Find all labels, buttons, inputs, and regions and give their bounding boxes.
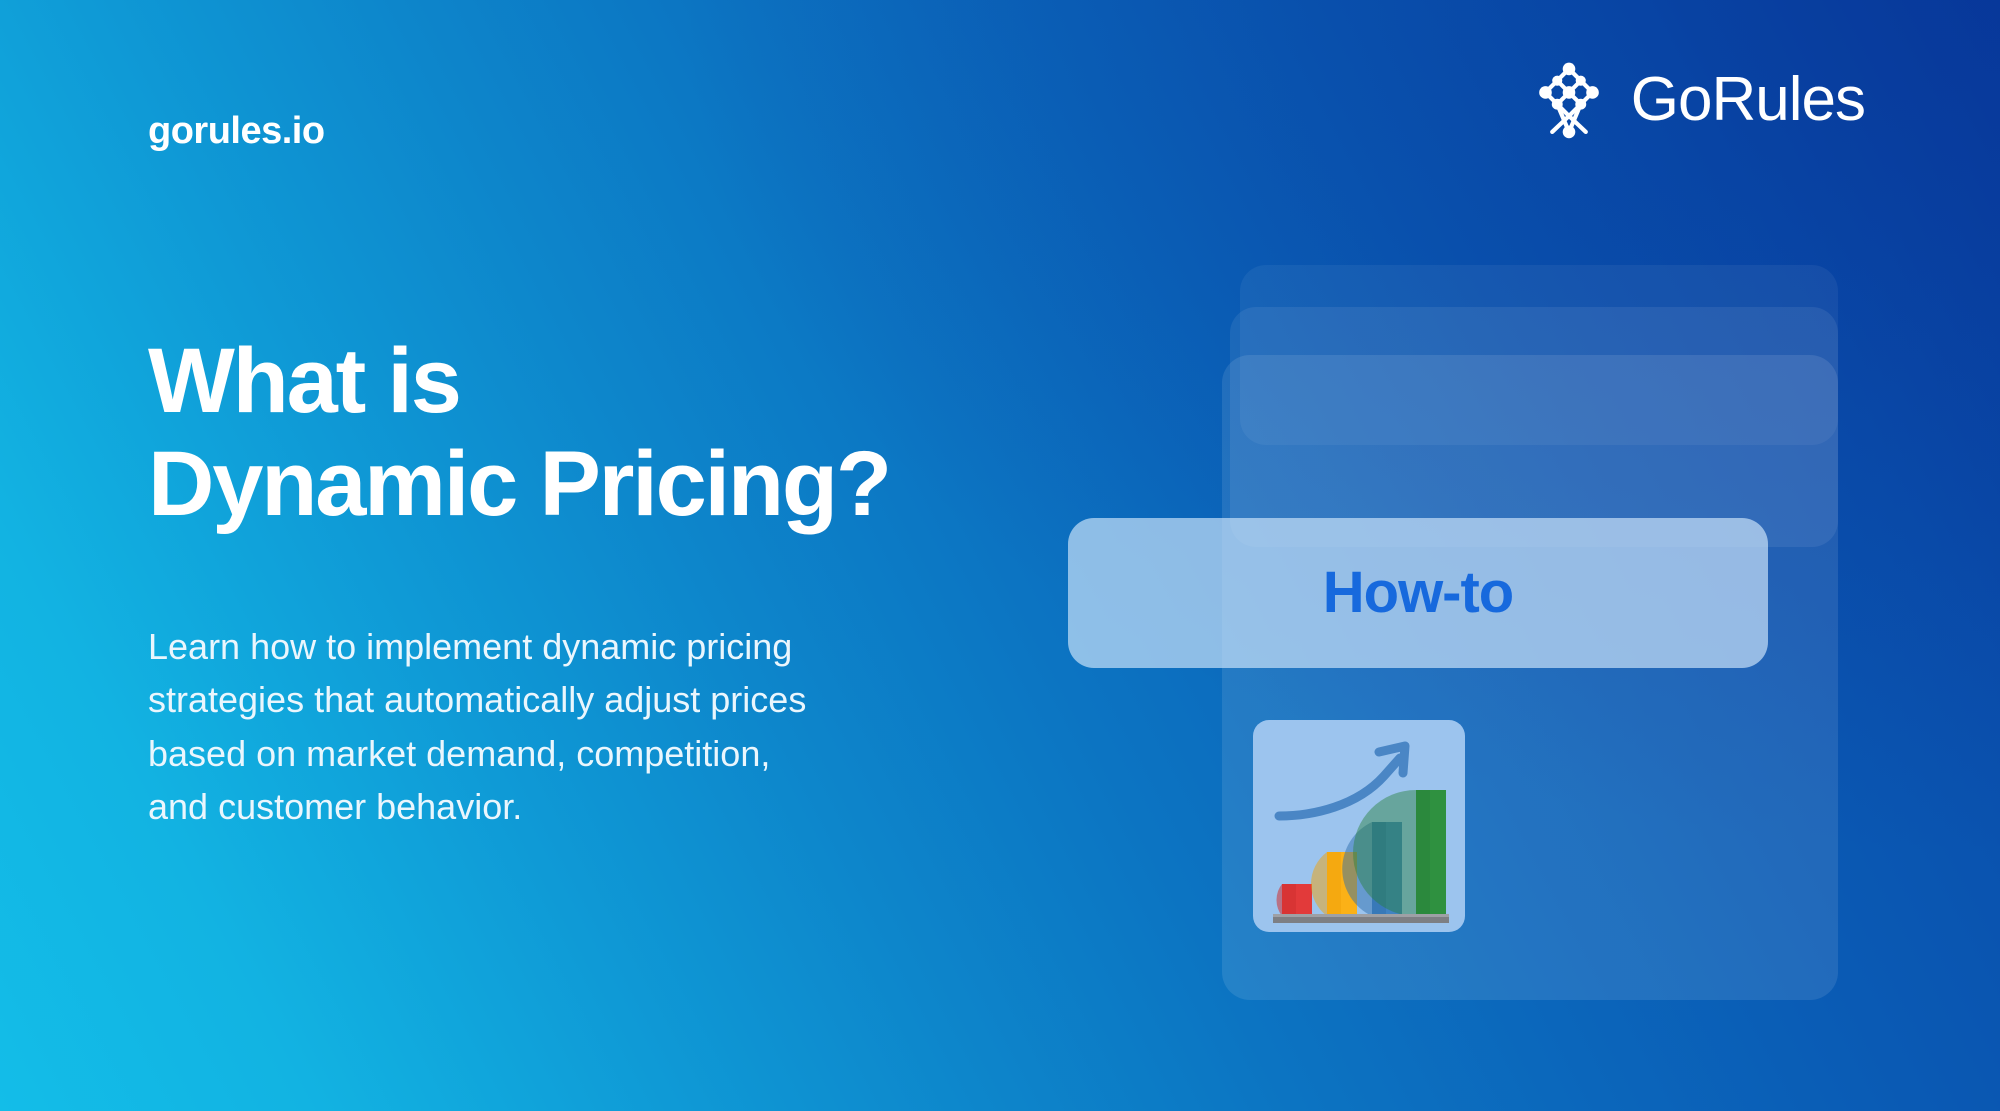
site-wordmark: gorules.io — [148, 112, 325, 150]
page-title: What is Dynamic Pricing? — [148, 330, 890, 536]
chart-bars — [1276, 790, 1446, 916]
status-badge-label: How-to — [1323, 564, 1514, 622]
headline-line-2: Dynamic Pricing? — [148, 433, 890, 536]
subcopy-line-3: based on market demand, competition, — [148, 727, 806, 780]
hero-illustration: How-to — [1040, 255, 1920, 1065]
subcopy-line-1: Learn how to implement dynamic pricing — [148, 620, 806, 673]
bar-chart-growth-icon — [1253, 720, 1465, 932]
brand-logo: GoRules — [1527, 58, 1865, 142]
subcopy-line-4: and customer behavior. — [148, 780, 806, 833]
status-badge: How-to — [1068, 518, 1768, 668]
subcopy-line-2: strategies that automatically adjust pri… — [148, 673, 806, 726]
chart-baseline-highlight — [1273, 914, 1449, 917]
brand-name: GoRules — [1631, 69, 1865, 131]
gorules-diamond-node-logo-icon — [1527, 58, 1611, 142]
page-subtitle: Learn how to implement dynamic pricing s… — [148, 620, 806, 833]
headline-line-1: What is — [148, 330, 890, 433]
